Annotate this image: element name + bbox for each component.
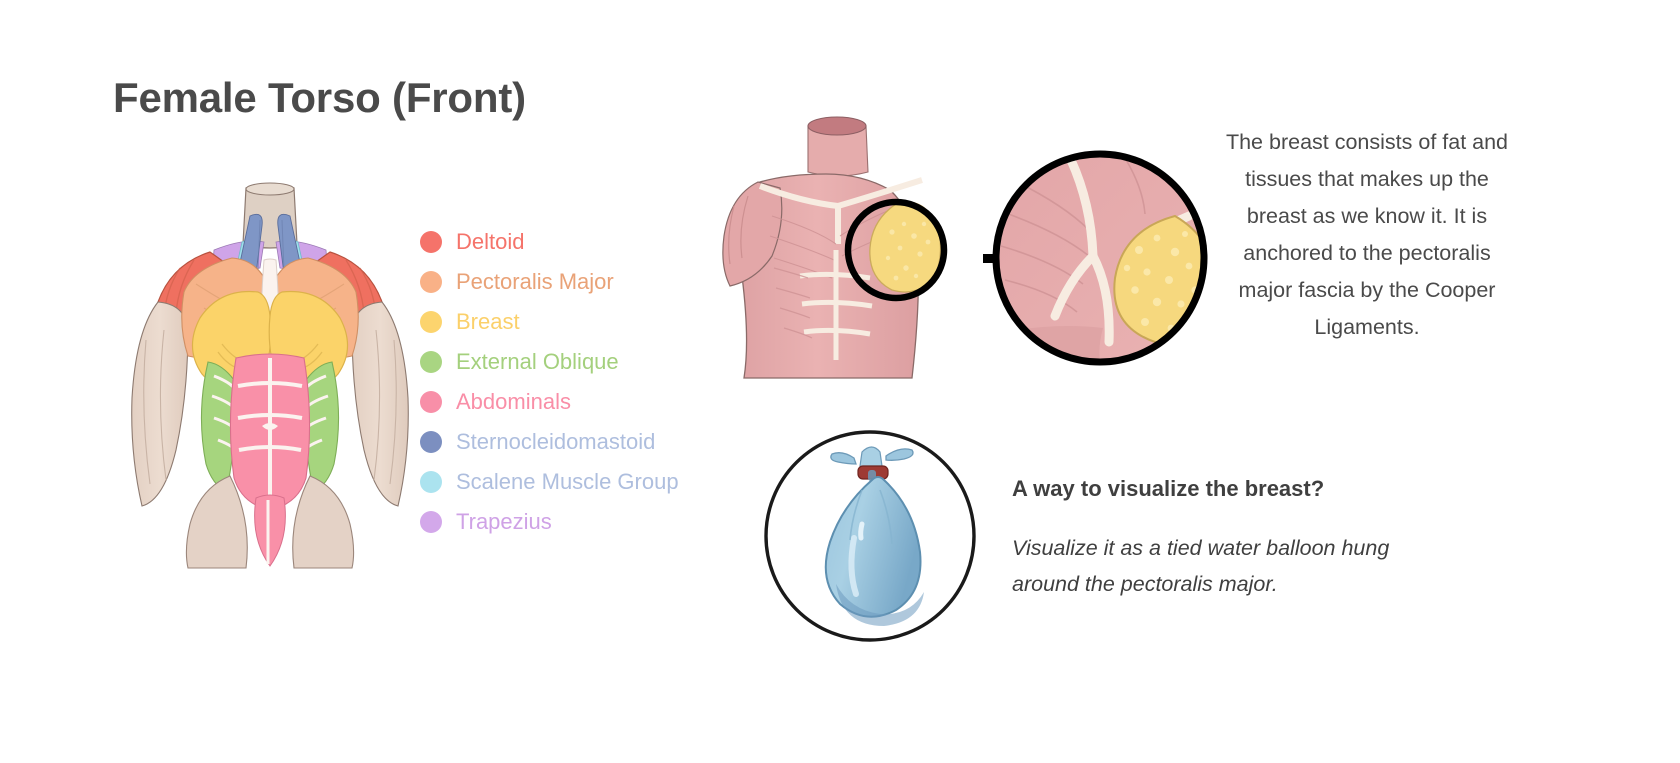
legend-dot-deltoid — [420, 231, 442, 253]
legend-item-scalene-muscle-group[interactable]: Scalene Muscle Group — [420, 462, 760, 502]
legend-item-trapezius[interactable]: Trapezius — [420, 502, 760, 542]
legend-label-abdominals: Abdominals — [456, 389, 571, 415]
legend-label-sternocleidomastoid: Sternocleidomastoid — [456, 429, 655, 455]
legend-item-sternocleidomastoid[interactable]: Sternocleidomastoid — [420, 422, 760, 462]
legend-label-pectoralis-major: Pectoralis Major — [456, 269, 614, 295]
diagram-canvas: Female Torso (Front) — [0, 0, 1680, 763]
legend-dot-breast — [420, 311, 442, 333]
balloon-knot — [831, 447, 913, 468]
legend-label-external-oblique: External Oblique — [456, 349, 619, 375]
legend-dot-sternocleidomastoid — [420, 431, 442, 453]
breast-tissue-magnifier-illustration — [975, 138, 1210, 383]
breast-description-paragraph: The breast consists of fat and tissues t… — [1222, 124, 1512, 346]
legend-label-breast: Breast — [456, 309, 520, 335]
page-title: Female Torso (Front) — [113, 74, 526, 122]
legend-dot-external-oblique — [420, 351, 442, 373]
legend-label-trapezius: Trapezius — [456, 509, 552, 535]
legend-label-deltoid: Deltoid — [456, 229, 524, 255]
legend-dot-abdominals — [420, 391, 442, 413]
legend-label-scalene-muscle-group: Scalene Muscle Group — [456, 469, 679, 495]
legend-dot-pectoralis-major — [420, 271, 442, 293]
legend-dot-trapezius — [420, 511, 442, 533]
legend-dot-scalene-muscle-group — [420, 471, 442, 493]
female-torso-front-illustration — [110, 180, 430, 570]
visualize-body-text: Visualize it as a tied water balloon hun… — [1012, 530, 1452, 602]
abdominals-region — [230, 354, 309, 510]
visualize-heading: A way to visualize the breast? — [1012, 476, 1492, 502]
water-balloon-illustration — [758, 428, 993, 648]
neck-stump — [808, 117, 868, 176]
legend-item-abdominals[interactable]: Abdominals — [420, 382, 760, 422]
